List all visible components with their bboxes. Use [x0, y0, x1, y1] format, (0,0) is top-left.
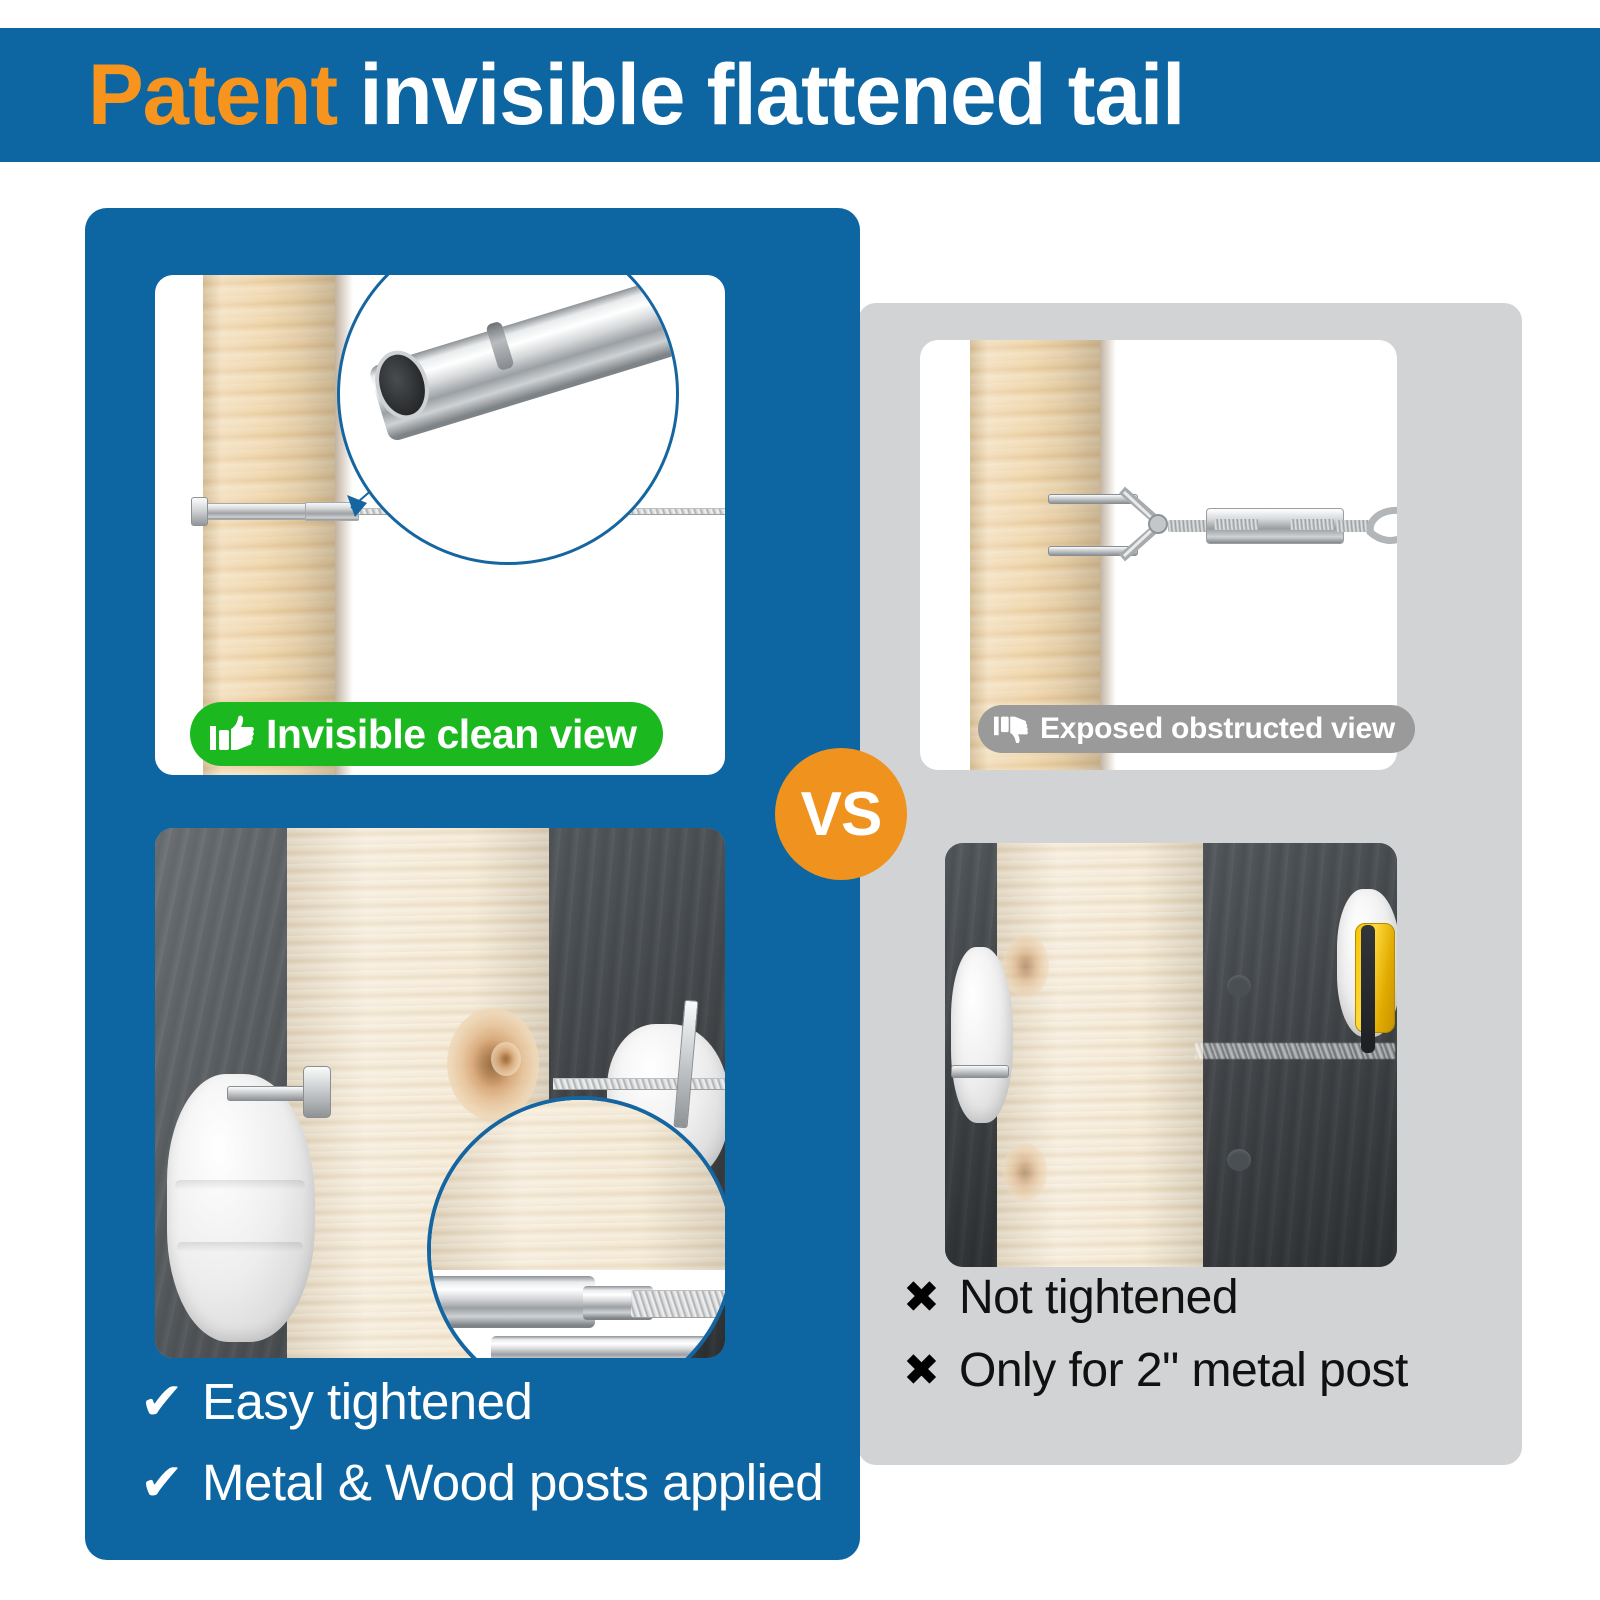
- cable-thimble-loop: [1364, 502, 1397, 556]
- wood-knot-small: [491, 1042, 521, 1076]
- bolt-left: [951, 1065, 1009, 1078]
- list-item: ✖ Not tightened: [903, 1270, 1523, 1325]
- list-item: ✔ Easy tightened: [140, 1372, 840, 1431]
- glove-left: [951, 947, 1013, 1123]
- cross-icon: ✖: [903, 1349, 959, 1393]
- magnifier-circle: [337, 275, 679, 565]
- magnified-swage-sleeve: [427, 1276, 595, 1328]
- exposed-obstructed-view-badge: Exposed obstructed view: [978, 705, 1415, 753]
- shirt-button-top: [1227, 975, 1251, 997]
- title-rest: invisible flattened tail: [359, 47, 1184, 143]
- install-magnifier-circle: [427, 1096, 725, 1358]
- glove-left-knuckle-2: [177, 1242, 303, 1252]
- list-item: ✖ Only for 2" metal post: [903, 1343, 1523, 1398]
- tool-black-grip: [1361, 925, 1375, 1053]
- check-icon: ✔: [140, 1376, 202, 1428]
- page-title: Patent invisible flattened tail: [88, 52, 1184, 138]
- badge-label: Exposed obstructed view: [1040, 712, 1395, 746]
- thumbs-down-icon: [994, 713, 1028, 745]
- magnified-cable: [631, 1290, 725, 1318]
- feature-label: Only for 2" metal post: [959, 1343, 1408, 1398]
- wood-knot-upper: [1003, 935, 1049, 997]
- good-feature-list: ✔ Easy tightened ✔ Metal & Wood posts ap…: [140, 1372, 840, 1534]
- magnifier-arrow-icon: [343, 493, 383, 533]
- wood-knot-lower: [1003, 1143, 1047, 1201]
- good-bottom-image-card: [155, 828, 725, 1358]
- magnified-plank: [431, 1100, 725, 1270]
- glove-left-knuckle: [175, 1180, 305, 1190]
- glove-left: [167, 1074, 315, 1342]
- turnbuckle-thread-inner-a: [1214, 519, 1258, 530]
- feature-label: Not tightened: [959, 1270, 1238, 1325]
- cross-icon: ✖: [903, 1276, 959, 1320]
- turnbuckle-thread-inner-b: [1290, 519, 1334, 530]
- good-top-image-card: [155, 275, 725, 775]
- shirt-button-bottom: [1227, 1149, 1251, 1171]
- thumbs-up-icon: [210, 714, 254, 754]
- title-accent-word: Patent: [88, 47, 337, 143]
- feature-label: Metal & Wood posts applied: [202, 1453, 823, 1512]
- wood-post-top-cap: [946, 340, 1102, 408]
- wood-post-top-cap: [177, 275, 335, 323]
- bolt-washer: [303, 1066, 331, 1118]
- check-icon: ✔: [140, 1457, 202, 1509]
- wood-plank: [997, 843, 1203, 1267]
- vs-label: VS: [801, 779, 882, 850]
- bad-feature-list: ✖ Not tightened ✖ Only for 2" metal post: [903, 1270, 1523, 1416]
- steel-cable-right: [553, 1078, 725, 1090]
- list-item: ✔ Metal & Wood posts applied: [140, 1453, 840, 1512]
- feature-label: Easy tightened: [202, 1372, 532, 1431]
- badge-label: Invisible clean view: [266, 711, 637, 758]
- header-banner: Patent invisible flattened tail: [0, 28, 1600, 162]
- bad-bottom-image-card: [945, 843, 1397, 1267]
- vs-badge: VS: [775, 748, 907, 880]
- magnified-lower-rod: [491, 1336, 725, 1358]
- invisible-clean-view-badge: Invisible clean view: [190, 702, 663, 766]
- stud-head: [191, 497, 208, 526]
